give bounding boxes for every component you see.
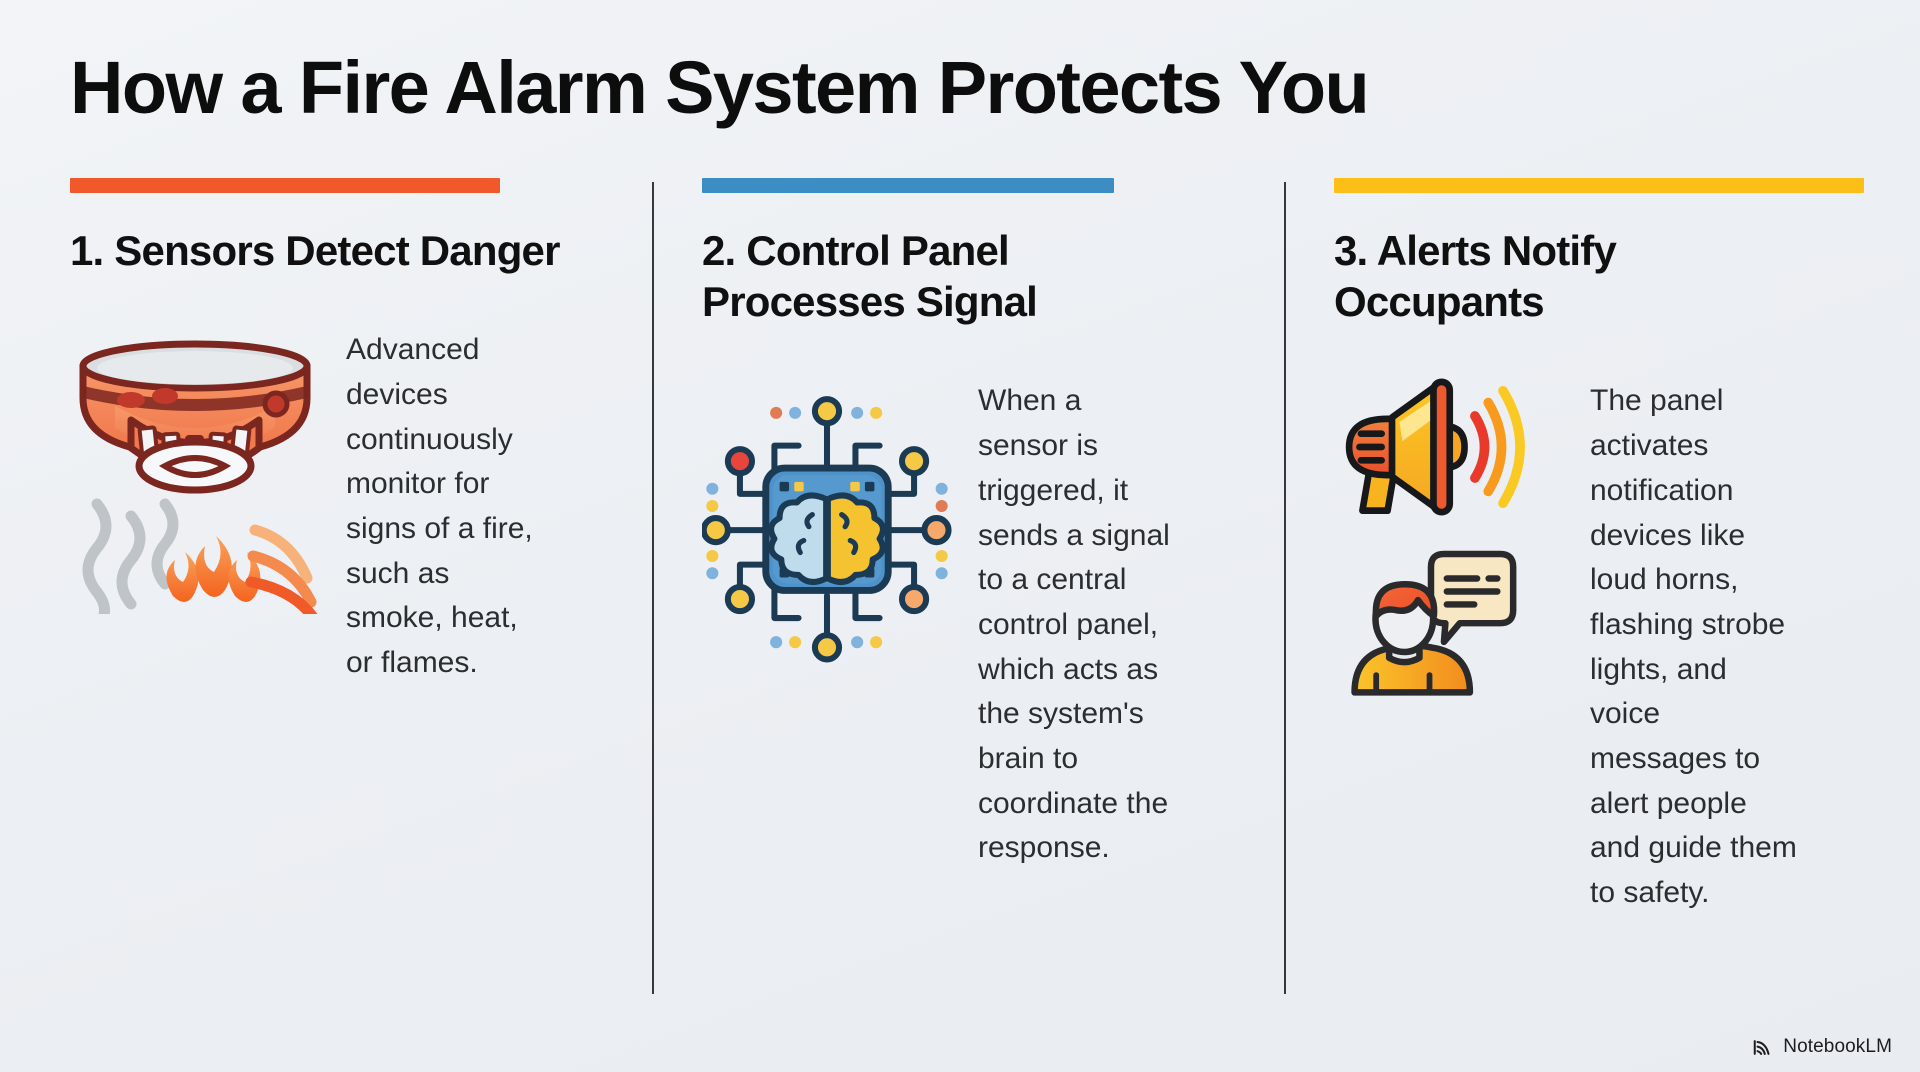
column-3-body-row: The panel activates notification devices… [1334, 365, 1864, 915]
notebooklm-watermark: NotebookLM [1752, 1036, 1892, 1058]
notebooklm-label: NotebookLM [1783, 1036, 1892, 1058]
column-1-heading: 1. Sensors Detect Danger [70, 225, 570, 276]
columns-container: 1. Sensors Detect Danger [0, 178, 1920, 1038]
column-1-icons [70, 314, 320, 614]
column-3-body: The panel activates notification devices… [1590, 365, 1800, 915]
column-3-heading: 3. Alerts Notify Occupants [1334, 225, 1834, 327]
person-speech-bubble-icon [1344, 541, 1554, 696]
smoke-detector-icon [69, 324, 321, 614]
notebooklm-icon [1752, 1038, 1774, 1057]
column-divider-2 [1284, 182, 1286, 994]
column-1-body: Advanced devices continuously monitor fo… [346, 314, 542, 686]
accent-bar-3 [1334, 178, 1864, 193]
page-title: How a Fire Alarm System Protects You [70, 48, 1860, 128]
column-divider-1 [652, 182, 654, 994]
column-2-body: When a sensor is triggered, it sends a s… [978, 365, 1178, 871]
column-2-body-row: When a sensor is triggered, it sends a s… [702, 365, 1228, 871]
column-2-icons [702, 365, 952, 664]
megaphone-icon [1340, 373, 1558, 521]
column-3-icons [1334, 365, 1564, 696]
column-1-body-row: Advanced devices continuously monitor fo… [70, 314, 596, 686]
column-alerts-notify-occupants: 3. Alerts Notify Occupants [1284, 178, 1920, 1038]
column-control-panel-processes-signal: 2. Control Panel Processes Signal [652, 178, 1284, 1038]
column-sensors-detect-danger: 1. Sensors Detect Danger [0, 178, 652, 1038]
column-2-heading: 2. Control Panel Processes Signal [702, 225, 1202, 327]
infographic-page: How a Fire Alarm System Protects You 1. … [0, 0, 1920, 1072]
ai-chip-brain-icon [702, 379, 952, 664]
accent-bar-1 [70, 178, 500, 193]
accent-bar-2 [702, 178, 1114, 193]
